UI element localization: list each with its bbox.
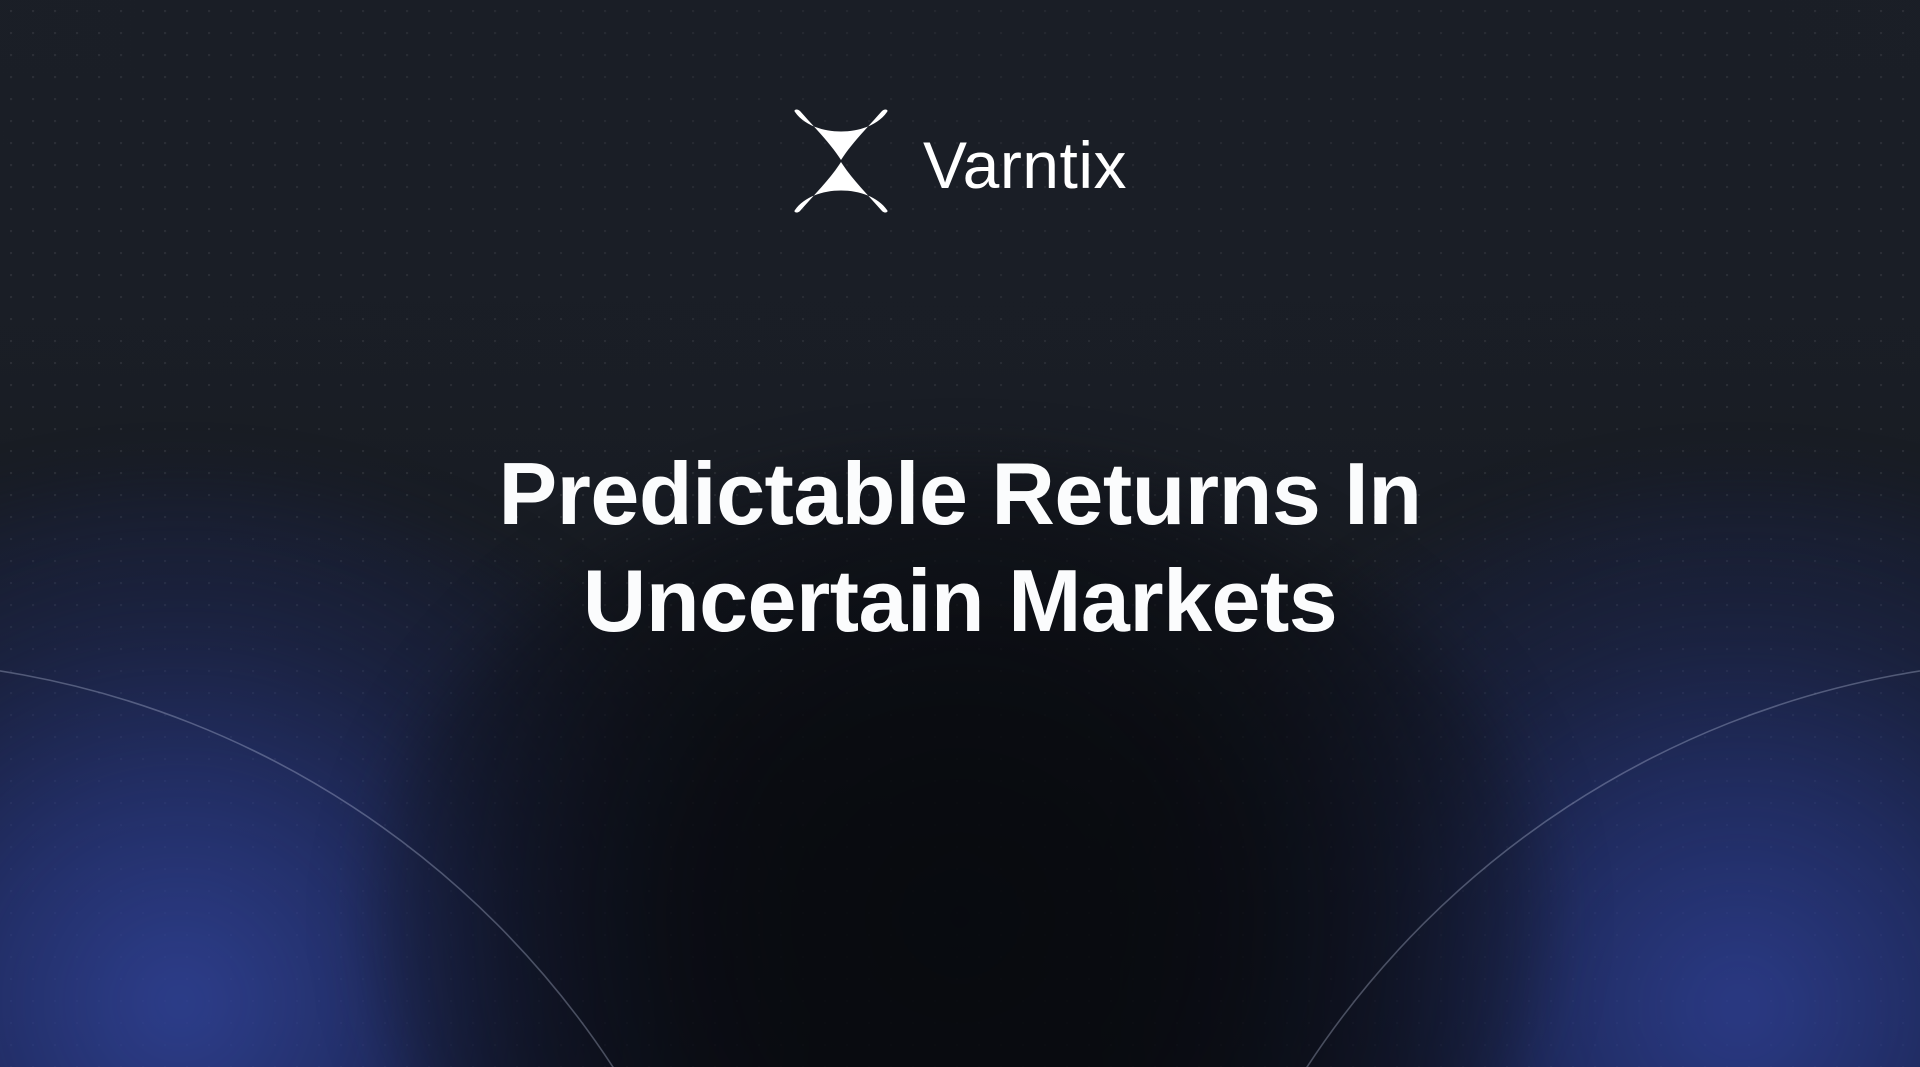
brand-name: Varntix xyxy=(923,132,1127,198)
hero-stage: Varntix Predictable Returns In Uncertain… xyxy=(0,0,1920,1067)
hero-headline: Predictable Returns In Uncertain Markets xyxy=(0,440,1920,655)
hero-headline-line-2: Uncertain Markets xyxy=(200,547,1720,654)
hero-headline-line-1: Predictable Returns In xyxy=(200,440,1720,547)
brand-lockup: Varntix xyxy=(0,108,1920,214)
hero-content: Varntix Predictable Returns In Uncertain… xyxy=(0,0,1920,1067)
varntix-hourglass-x-icon xyxy=(793,108,889,214)
